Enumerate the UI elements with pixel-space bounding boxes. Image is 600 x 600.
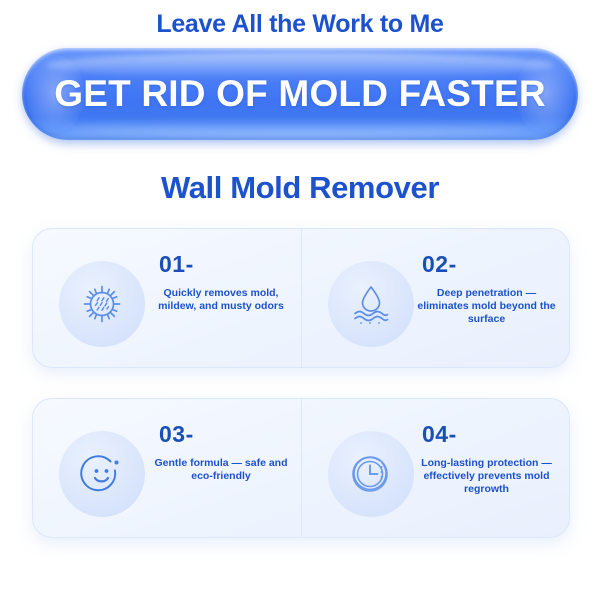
feature-cell-03: 03- Gentle formula — safe and eco-friend… [33, 399, 301, 537]
feature-number-03: 03- [159, 421, 293, 447]
headline-pill: GET RID OF MOLD FASTER [22, 48, 578, 140]
product-subtitle: Wall Mold Remover [0, 168, 600, 208]
feature-description-01: Quickly removes mold, mildew, and musty … [149, 287, 293, 313]
feature-panel-row-1: 01- Quickly removes mold, mildew, and mu… [32, 228, 570, 368]
feature-description-02: Deep penetration — eliminates mold beyon… [412, 287, 561, 326]
feature-cell-01: 01- Quickly removes mold, mildew, and mu… [33, 229, 301, 367]
page-tagline: Leave All the Work to Me [0, 8, 600, 40]
feature-number-02: 02- [422, 251, 561, 277]
feature-text-04: 04- Long-lasting protection — effectivel… [412, 421, 561, 496]
pill-headline-text: GET RID OF MOLD FASTER [22, 48, 578, 140]
feature-description-03: Gentle formula — safe and eco-friendly [149, 457, 293, 483]
mold-spore-icon [59, 261, 145, 347]
smiley-face-icon [59, 431, 145, 517]
clock-icon [328, 431, 414, 517]
water-drop-waves-icon [328, 261, 414, 347]
feature-text-01: 01- Quickly removes mold, mildew, and mu… [149, 251, 293, 313]
feature-panel-row-2: 03- Gentle formula — safe and eco-friend… [32, 398, 570, 538]
feature-cell-04: 04- Long-lasting protection — effectivel… [301, 399, 569, 537]
feature-number-01: 01- [159, 251, 293, 277]
feature-text-03: 03- Gentle formula — safe and eco-friend… [149, 421, 293, 483]
feature-number-04: 04- [422, 421, 561, 447]
feature-text-02: 02- Deep penetration — eliminates mold b… [412, 251, 561, 326]
feature-cell-02: 02- Deep penetration — eliminates mold b… [301, 229, 569, 367]
feature-description-04: Long-lasting protection — effectively pr… [412, 457, 561, 496]
